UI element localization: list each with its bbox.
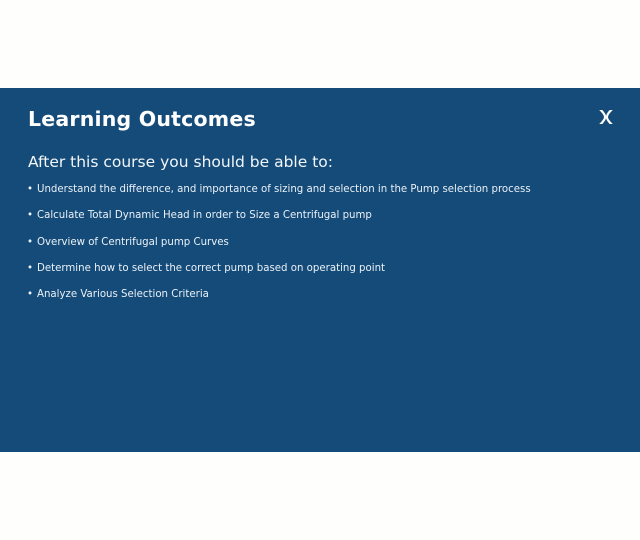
list-item-label: Understand the difference, and importanc… [37,184,531,195]
list-item-label: Analyze Various Selection Criteria [37,289,209,300]
slide-subtitle: After this course you should be able to: [28,153,333,172]
bullet-icon: • [27,289,33,302]
list-item: • Overview of Centrifugal pump Curves [27,237,617,250]
list-item: • Determine how to select the correct pu… [27,263,617,276]
slide-stage: Learning Outcomes After this course you … [0,0,640,540]
list-item: • Understand the difference, and importa… [27,184,617,197]
bullet-icon: • [27,237,33,250]
close-x-icon [596,107,616,127]
list-item: • Calculate Total Dynamic Head in order … [27,210,617,223]
panel-header: Learning Outcomes [0,88,640,148]
list-item: • Analyze Various Selection Criteria [27,289,617,302]
list-item-label: Determine how to select the correct pump… [37,263,385,274]
learning-outcomes-panel: Learning Outcomes After this course you … [0,88,640,452]
bullet-icon: • [27,210,33,223]
page-title: Learning Outcomes [28,108,256,131]
list-item-label: Calculate Total Dynamic Head in order to… [37,210,372,221]
outcomes-list: • Understand the difference, and importa… [27,184,617,315]
close-button[interactable] [594,105,618,129]
list-item-label: Overview of Centrifugal pump Curves [37,237,229,248]
bullet-icon: • [27,184,33,197]
bullet-icon: • [27,263,33,276]
